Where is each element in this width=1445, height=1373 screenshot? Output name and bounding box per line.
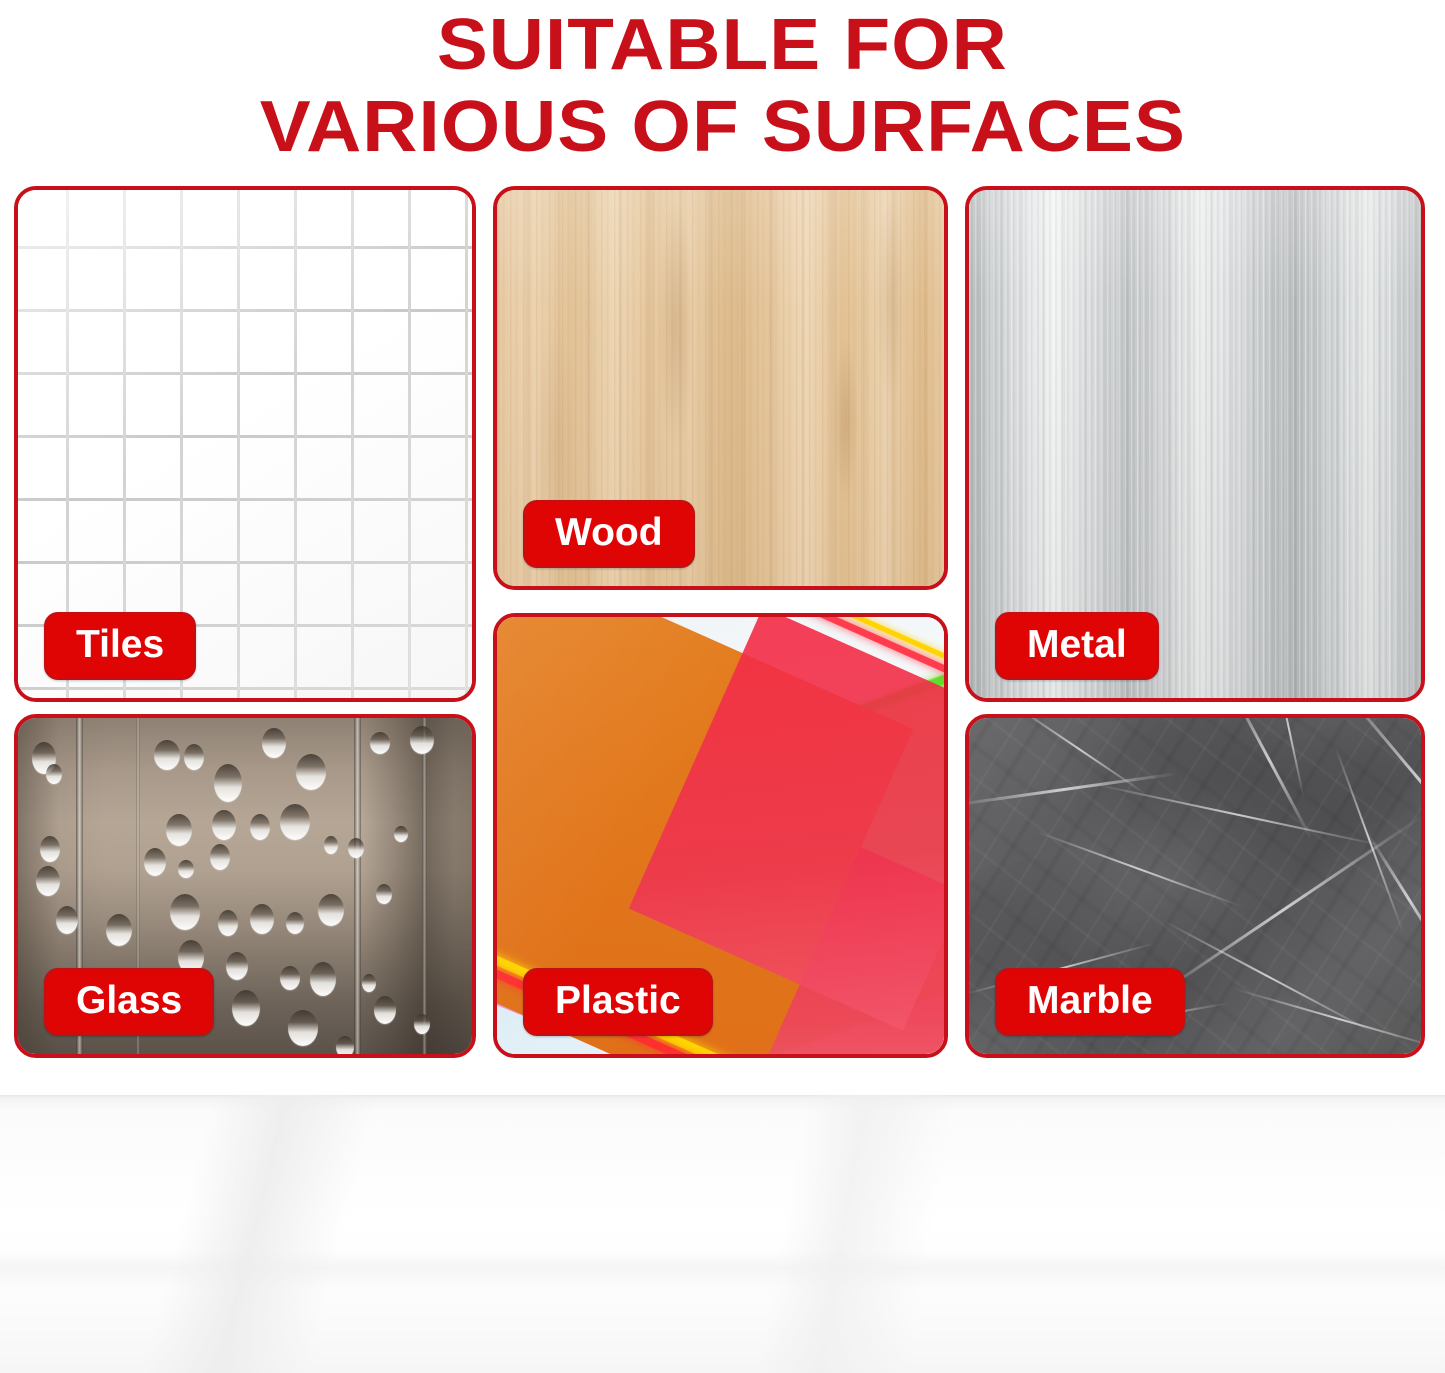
page-title: SUITABLE FOR VARIOUS OF SURFACES — [0, 0, 1445, 172]
surface-label-metal: Metal — [995, 612, 1159, 680]
surface-card-metal[interactable]: Metal — [965, 186, 1425, 702]
headline-line-1: SUITABLE FOR — [437, 4, 1008, 86]
surface-card-glass[interactable]: Glass — [14, 714, 476, 1058]
surface-card-wood[interactable]: Wood — [493, 186, 948, 590]
surface-label-tiles: Tiles — [44, 612, 196, 680]
surface-label-glass: Glass — [44, 968, 214, 1036]
surface-label-plastic: Plastic — [523, 968, 713, 1036]
headline-line-2: VARIOUS OF SURFACES — [259, 86, 1185, 168]
product-backdrop-panel — [0, 1095, 1445, 1373]
surface-label-wood: Wood — [523, 500, 695, 568]
surface-card-marble[interactable]: Marble — [965, 714, 1425, 1058]
surface-card-tiles[interactable]: Tiles — [14, 186, 476, 702]
surface-card-plastic[interactable]: Plastic — [493, 613, 948, 1058]
surface-label-marble: Marble — [995, 968, 1185, 1036]
